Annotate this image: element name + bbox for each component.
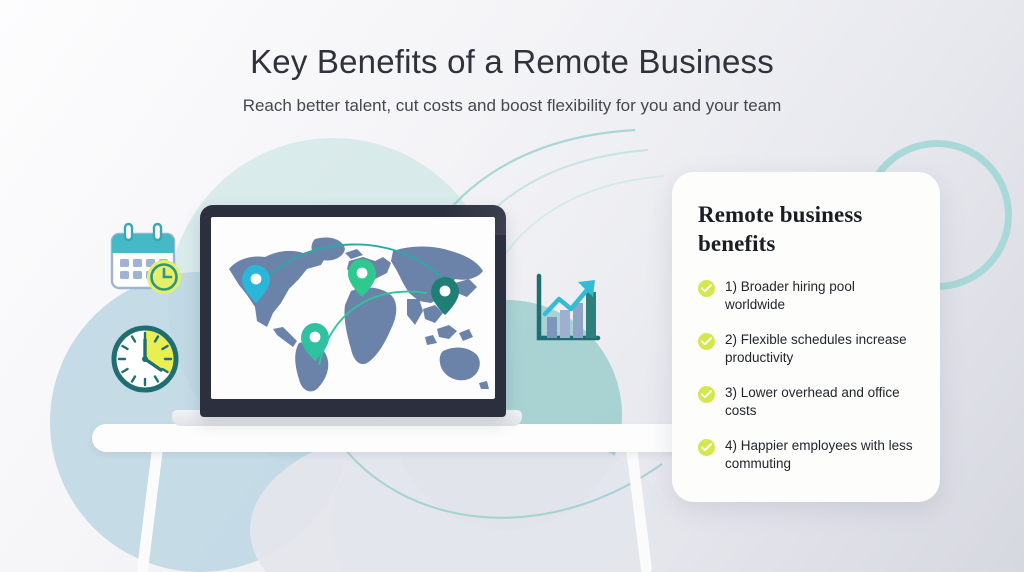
list-item: 2) Flexible schedules increase productiv… (698, 331, 914, 367)
check-icon (698, 386, 715, 403)
list-item: 3) Lower overhead and office costs (698, 384, 914, 420)
benefit-label: 3) Lower overhead and office costs (725, 384, 914, 420)
check-icon (698, 280, 715, 297)
desk-leg-right (626, 447, 652, 572)
infographic-canvas: Key Benefits of a Remote Business Reach … (0, 0, 1024, 572)
growth-chart-icon (532, 272, 602, 351)
laptop-screen (200, 205, 506, 417)
benefit-label: 4) Happier employees with less commuting (725, 437, 914, 473)
desk-top (92, 424, 692, 452)
benefit-label: 1) Broader hiring pool worldwide (725, 278, 914, 314)
benefits-card: Remote business benefits 1) Broader hiri… (672, 172, 940, 502)
laptop-screen-content (211, 217, 495, 399)
list-item: 4) Happier employees with less commuting (698, 437, 914, 473)
page-subtitle: Reach better talent, cut costs and boost… (0, 94, 1024, 118)
calendar-icon (108, 222, 184, 301)
header: Key Benefits of a Remote Business Reach … (0, 40, 1024, 118)
list-item: 1) Broader hiring pool worldwide (698, 278, 914, 314)
wall-clock-icon (108, 322, 182, 401)
benefit-label: 2) Flexible schedules increase productiv… (725, 331, 914, 367)
desk-leg-left (137, 447, 163, 572)
card-title: Remote business benefits (698, 200, 914, 258)
page-title: Key Benefits of a Remote Business (0, 40, 1024, 84)
check-icon (698, 439, 715, 456)
check-icon (698, 333, 715, 350)
world-map-icon (211, 217, 495, 399)
